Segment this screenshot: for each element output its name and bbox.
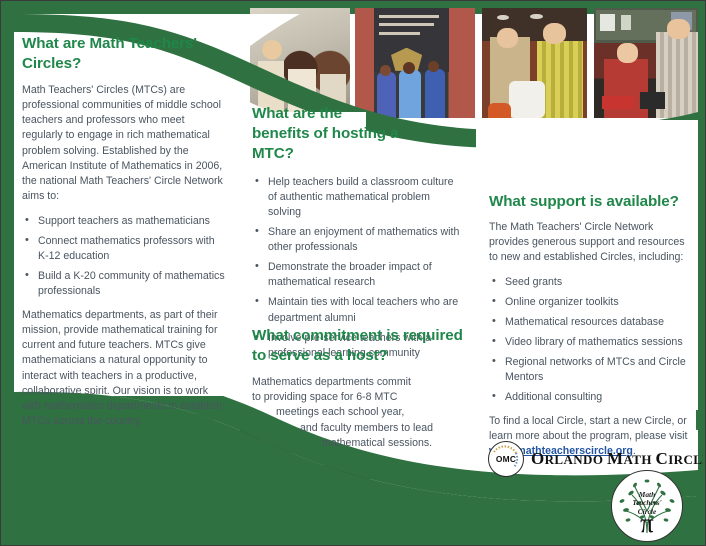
list-item: Mathematical resources database bbox=[489, 315, 689, 330]
paragraph-support-intro: The Math Teachers' Circle Network provid… bbox=[489, 220, 689, 266]
photo-two-men-activity bbox=[482, 8, 587, 118]
commitment-line: meetings each school year, bbox=[276, 405, 470, 420]
photo-teacher-table bbox=[594, 8, 698, 118]
photo-maa-entrance bbox=[355, 8, 475, 118]
list-item: Demonstrate the broader impact of mathem… bbox=[252, 260, 462, 290]
list-item: Share an enjoyment of mathematics with o… bbox=[252, 225, 462, 255]
list-item: Video library of mathematics sessions bbox=[489, 335, 689, 350]
heading-what-are-mtc: What are Math Teachers' Circles? bbox=[22, 34, 227, 74]
list-item: Seed grants bbox=[489, 275, 689, 290]
omc-wordmark: ORLANDO MATH CIRCLE bbox=[531, 449, 706, 469]
photo-workshop-presenter bbox=[250, 8, 350, 118]
omc-word-c: C bbox=[656, 449, 669, 468]
omc-arc-text-decoration bbox=[488, 441, 522, 475]
heading-support-available: What support is available? bbox=[489, 192, 689, 212]
list-mtc-aims: Support teachers as mathematicians Conne… bbox=[22, 214, 227, 299]
column-middle-commitment: What commitment is required to serve as … bbox=[252, 326, 470, 452]
closing-text: To find a local Circle, start a new Circ… bbox=[489, 415, 687, 442]
column-right-support: What support is available? The Math Teac… bbox=[489, 192, 689, 459]
list-item: Online organizer toolkits bbox=[489, 295, 689, 310]
commitment-line: to providing space for 6-8 MTC bbox=[252, 390, 470, 405]
commitment-line: and faculty members to lead bbox=[300, 421, 470, 436]
paragraph-math-departments: Mathematics departments, as part of thei… bbox=[22, 308, 227, 430]
omc-word-ircle: IRCLE bbox=[668, 452, 706, 467]
list-item: Support teachers as mathematicians bbox=[22, 214, 227, 229]
mtc-pi-symbol: π bbox=[612, 510, 682, 537]
column-left: What are Math Teachers' Circles? Math Te… bbox=[22, 34, 227, 439]
list-item: Regional networks of MTCs and Circle Men… bbox=[489, 355, 689, 385]
omc-word-ath: ATH bbox=[623, 452, 655, 467]
omc-word-rlando: RLANDO bbox=[545, 452, 607, 467]
commitment-line: Mathematics departments commit bbox=[252, 375, 470, 390]
math-teachers-circle-seal: Math Teachers' Circle π bbox=[611, 470, 683, 542]
list-item: Build a K-20 community of mathematics pr… bbox=[22, 269, 227, 299]
omc-word-o: O bbox=[531, 449, 545, 468]
omc-circle-mark: OMC bbox=[488, 441, 524, 477]
list-item: Maintain ties with local teachers who ar… bbox=[252, 295, 462, 325]
bottom-green-band bbox=[0, 524, 706, 546]
list-support: Seed grants Online organizer toolkits Ma… bbox=[489, 275, 689, 405]
list-item: Additional consulting bbox=[489, 390, 689, 405]
list-item: Help teachers build a classroom culture … bbox=[252, 175, 462, 220]
commitment-line: mathematical sessions. bbox=[322, 436, 470, 451]
paragraph-commitment: Mathematics departments commit to provid… bbox=[252, 375, 470, 452]
heading-benefits-of-hosting: What are the benefits of hosting a MTC? bbox=[252, 104, 402, 163]
heading-commitment-required: What commitment is required to serve as … bbox=[252, 326, 470, 366]
paragraph-mtc-intro: Math Teachers' Circles (MTCs) are profes… bbox=[22, 83, 227, 205]
brochure-page: What are Math Teachers' Circles? Math Te… bbox=[0, 0, 706, 546]
omc-word-m: M bbox=[607, 449, 623, 468]
list-item: Connect mathematics professors with K-12… bbox=[22, 234, 227, 264]
left-green-band bbox=[0, 0, 14, 546]
